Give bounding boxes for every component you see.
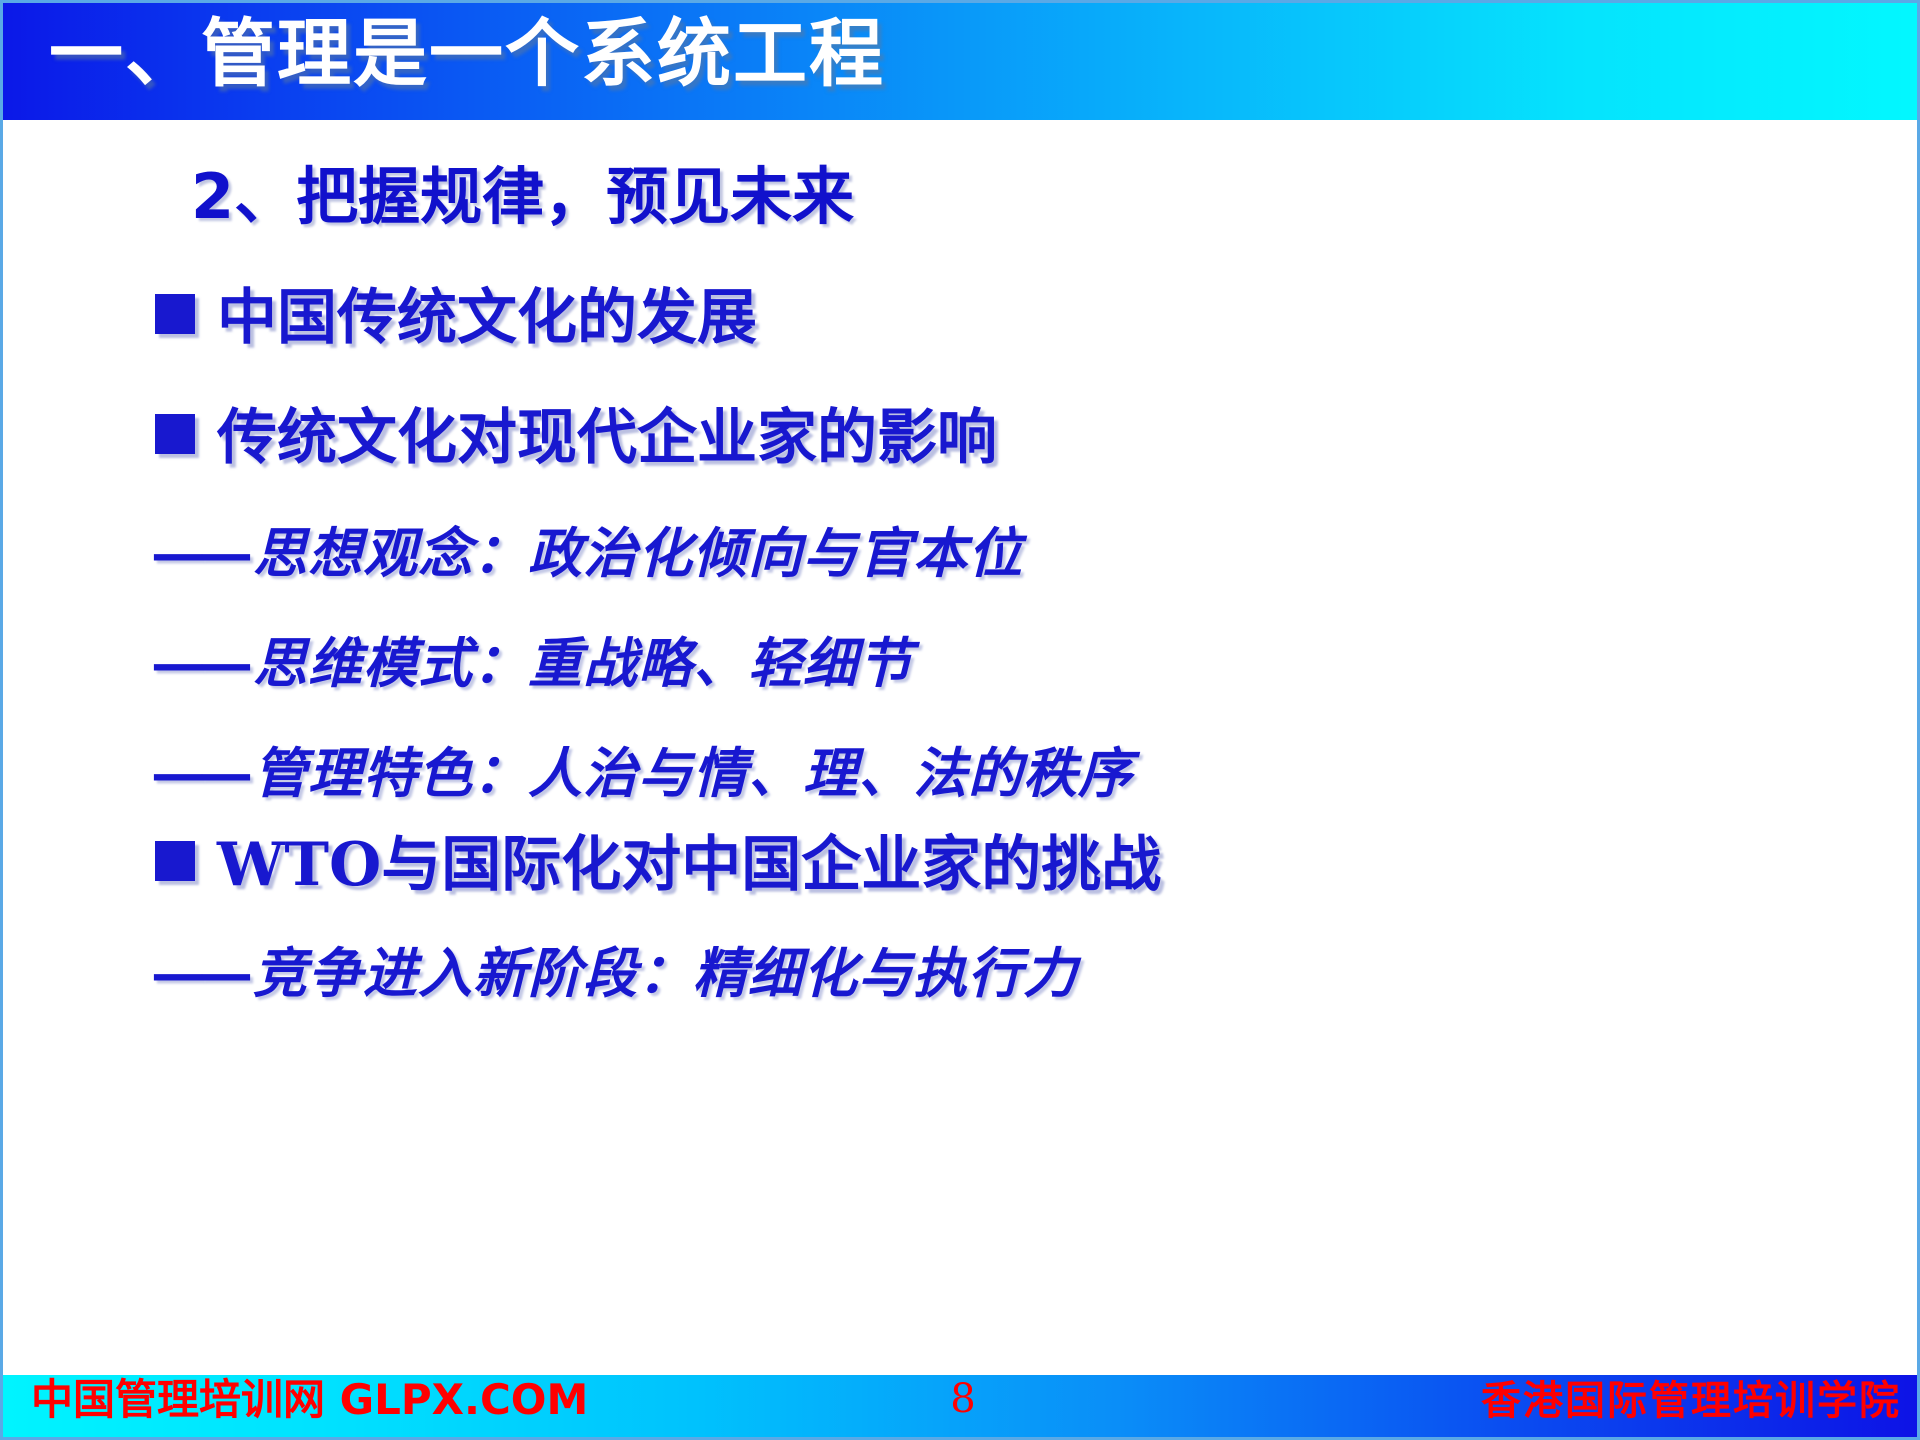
em-dash-lead: —— xyxy=(151,741,247,805)
sub-item-3: ——管理特色：人治与情、理、法的秩序 xyxy=(151,746,1133,800)
bullet-item-3-label: WTO与国际化对中国企业家的挑战 xyxy=(217,830,1161,900)
em-dash-lead: —— xyxy=(151,521,247,585)
slide-content: 2、把握规律，预见未来 中国传统文化的发展 传统文化对现代企业家的影响 ——思想… xyxy=(3,120,1920,1360)
slide-footer-bar: 中国管理培训网 GLPX.COM 8 香港国际管理培训学院 xyxy=(3,1375,1920,1437)
slide-header-bar: 一、管理是一个系统工程 xyxy=(3,3,1920,120)
sub-item-1-label: 思想观念：政治化倾向与官本位 xyxy=(253,521,1023,585)
sub-item-4: ——竞争进入新阶段：精细化与执行力 xyxy=(151,946,1078,1000)
bullet-item-2-label: 传统文化对现代企业家的影响 xyxy=(217,403,997,473)
bullet-item-1: 中国传统文化的发展 xyxy=(155,288,757,348)
sub-item-4-label: 竞争进入新阶段：精细化与执行力 xyxy=(253,941,1078,1005)
sub-item-1: ——思想观念：政治化倾向与官本位 xyxy=(151,526,1023,580)
bullet-item-1-label: 中国传统文化的发展 xyxy=(217,283,757,353)
slide-header-title: 一、管理是一个系统工程 xyxy=(49,17,885,91)
bullet-item-3: WTO与国际化对中国企业家的挑战 xyxy=(155,835,1161,895)
bullet-item-2: 传统文化对现代企业家的影响 xyxy=(155,408,997,468)
filled-square-icon xyxy=(155,414,195,454)
section-heading: 2、把握规律，预见未来 xyxy=(191,166,854,228)
sub-item-2-label: 思维模式：重战略、轻细节 xyxy=(253,631,913,695)
filled-square-icon xyxy=(155,841,195,881)
footer-brand-right: 香港国际管理培训学院 xyxy=(1481,1381,1901,1421)
filled-square-icon xyxy=(155,294,195,334)
sub-item-3-label: 管理特色：人治与情、理、法的秩序 xyxy=(253,741,1133,805)
em-dash-lead: —— xyxy=(151,941,247,1005)
em-dash-lead: —— xyxy=(151,631,247,695)
slide: 一、管理是一个系统工程 2、把握规律，预见未来 中国传统文化的发展 传统文化对现… xyxy=(0,0,1920,1440)
sub-item-2: ——思维模式：重战略、轻细节 xyxy=(151,636,913,690)
